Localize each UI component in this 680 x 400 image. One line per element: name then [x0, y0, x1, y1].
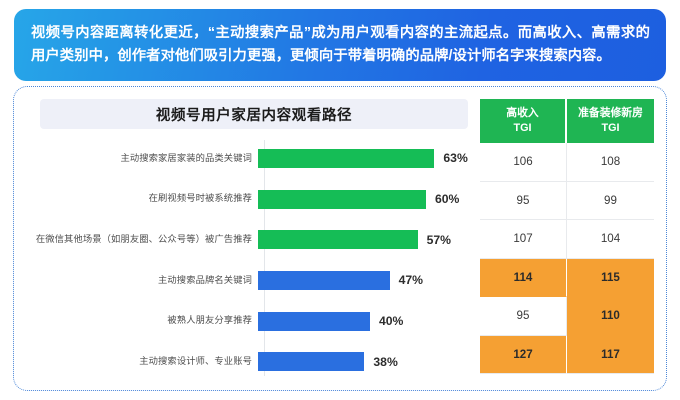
table-row: 9599: [480, 182, 654, 221]
table-header-high-income: 高收入 TGI: [480, 99, 567, 143]
bar-chart: 主动搜索家居家装的品类关键词63%在刷视频号时被系统推荐60%在微信其他场景（如…: [26, 138, 474, 382]
chart-panel: 视频号用户家居内容观看路径 主动搜索家居家装的品类关键词63%在刷视频号时被系统…: [26, 95, 474, 382]
bar-row: 主动搜索品牌名关键词47%: [26, 260, 474, 301]
tgi-cell: 99: [567, 182, 654, 221]
tgi-cell: 108: [567, 143, 654, 182]
table-header-row: 高收入 TGI 准备装修新房 TGI: [480, 99, 654, 143]
tgi-cell-highlighted: 127: [480, 336, 567, 375]
bar-category-label: 主动搜索家居家装的品类关键词: [26, 152, 258, 165]
bar-value-label: 40%: [379, 314, 403, 328]
table-header-new-home-renovation: 准备装修新房 TGI: [567, 99, 654, 143]
tgi-table: 高收入 TGI 准备装修新房 TGI 106108959910710411411…: [480, 99, 654, 374]
bar-category-label: 被熟人朋友分享推荐: [26, 314, 258, 327]
bar-value-label: 60%: [435, 192, 459, 206]
content-card: 视频号用户家居内容观看路径 主动搜索家居家装的品类关键词63%在刷视频号时被系统…: [13, 86, 667, 391]
banner-text: 视频号内容距离转化更近，“主动搜索产品”成为用户观看内容的主流起点。而高收入、高…: [31, 22, 650, 68]
bar-category-label: 在微信其他场景（如朋友圈、公众号等）被广告推荐: [26, 233, 258, 246]
bar: [258, 352, 364, 371]
tgi-cell-highlighted: 115: [567, 259, 654, 298]
bar-row: 主动搜索家居家装的品类关键词63%: [26, 138, 474, 179]
bar: [258, 312, 370, 331]
table-header-new-home-renovation-line2: TGI: [567, 121, 654, 136]
tgi-cell-highlighted: 114: [480, 259, 567, 298]
bar-category-label: 在刷视频号时被系统推荐: [26, 192, 258, 205]
bar-track: 38%: [258, 341, 474, 382]
chart-title: 视频号用户家居内容观看路径: [156, 104, 352, 125]
table-row: 106108: [480, 143, 654, 182]
bar-category-label: 主动搜索品牌名关键词: [26, 274, 258, 287]
bar-row: 主动搜索设计师、专业账号38%: [26, 341, 474, 382]
bar-row: 在微信其他场景（如朋友圈、公众号等）被广告推荐57%: [26, 219, 474, 260]
tgi-cell: 104: [567, 220, 654, 259]
table-row: 114115: [480, 259, 654, 298]
bar-track: 40%: [258, 301, 474, 342]
bar-value-label: 38%: [373, 355, 397, 369]
bar-track: 47%: [258, 260, 474, 301]
tgi-cell-highlighted: 117: [567, 336, 654, 375]
bar-category-label: 主动搜索设计师、专业账号: [26, 355, 258, 368]
table-header-high-income-line1: 高收入: [480, 106, 565, 121]
tgi-table-panel: 高收入 TGI 准备装修新房 TGI 106108959910710411411…: [480, 95, 654, 382]
bar-row: 被熟人朋友分享推荐40%: [26, 301, 474, 342]
bar: [258, 271, 390, 290]
bar: [258, 149, 434, 168]
tgi-cell: 106: [480, 143, 567, 182]
bar-row: 在刷视频号时被系统推荐60%: [26, 179, 474, 220]
tgi-cell: 95: [480, 297, 567, 336]
bar-value-label: 63%: [443, 151, 467, 165]
table-row: 107104: [480, 220, 654, 259]
bar-rows: 主动搜索家居家装的品类关键词63%在刷视频号时被系统推荐60%在微信其他场景（如…: [26, 138, 474, 382]
table-row: 127117: [480, 336, 654, 375]
table-header-new-home-renovation-line1: 准备装修新房: [567, 106, 654, 121]
chart-title-band: 视频号用户家居内容观看路径: [40, 99, 468, 129]
bar: [258, 190, 426, 209]
bar-track: 63%: [258, 138, 474, 179]
bar-value-label: 57%: [427, 233, 451, 247]
table-header-high-income-line2: TGI: [480, 121, 565, 136]
bar-track: 57%: [258, 219, 474, 260]
insight-banner: 视频号内容距离转化更近，“主动搜索产品”成为用户观看内容的主流起点。而高收入、高…: [14, 9, 666, 81]
bar: [258, 230, 418, 249]
tgi-cell-highlighted: 110: [567, 297, 654, 336]
tgi-cell: 107: [480, 220, 567, 259]
bar-track: 60%: [258, 179, 474, 220]
tgi-cell: 95: [480, 182, 567, 221]
tgi-table-body: 106108959910710411411595110127117: [480, 143, 654, 374]
table-row: 95110: [480, 297, 654, 336]
bar-value-label: 47%: [399, 273, 423, 287]
